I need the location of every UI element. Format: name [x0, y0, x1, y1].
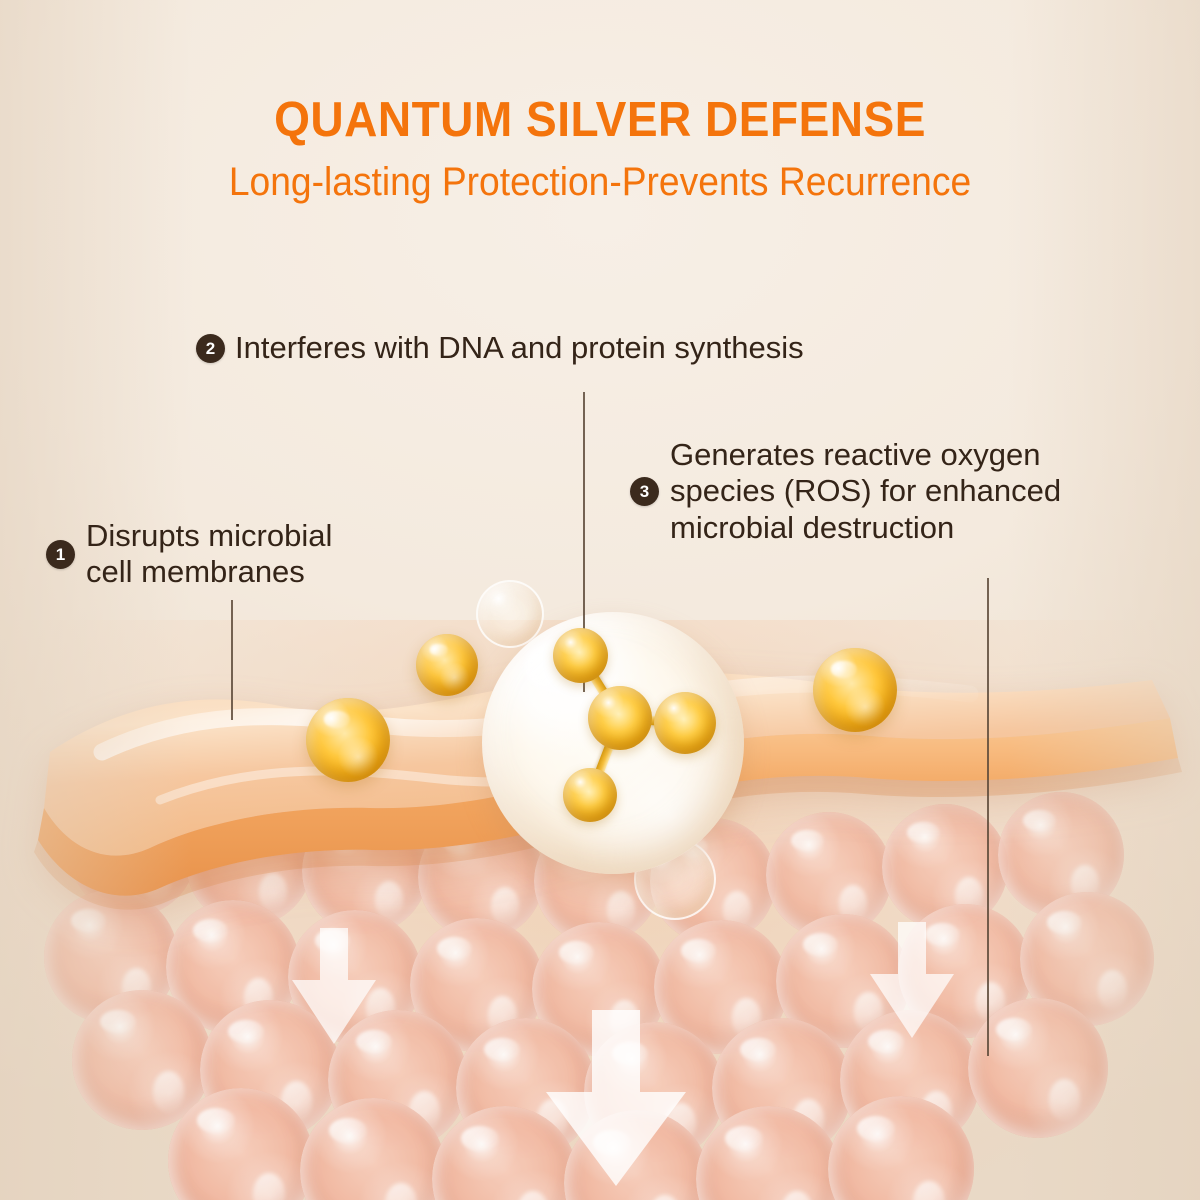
callout-2: 2 Interferes with DNA and protein synthe…	[196, 330, 804, 366]
gold-particle	[416, 634, 478, 696]
gold-particle	[306, 698, 390, 782]
callout-2-text: Interferes with DNA and protein synthesi…	[235, 330, 804, 366]
callout-2-badge: 2	[196, 334, 225, 363]
penetration-arrow-center	[540, 1010, 692, 1190]
callout-3: 3 Generates reactive oxygen species (ROS…	[630, 437, 1061, 546]
molecule-atom	[553, 628, 608, 683]
callout-3-badge: 3	[630, 477, 659, 506]
penetration-arrow-right	[866, 922, 958, 1040]
infographic-canvas: QUANTUM SILVER DEFENSE Long-lasting Prot…	[0, 0, 1200, 1200]
callout-1-badge: 1	[46, 540, 75, 569]
page-title: QUANTUM SILVER DEFENSE	[36, 92, 1164, 148]
callout-1-text: Disrupts microbial cell membranes	[86, 518, 332, 591]
callout-3-text: Generates reactive oxygen species (ROS) …	[670, 437, 1061, 546]
page-subtitle: Long-lasting Protection-Prevents Recurre…	[42, 160, 1158, 205]
gold-particle	[813, 648, 897, 732]
callout-1: 1 Disrupts microbial cell membranes	[46, 518, 332, 591]
molecule-atom-center	[588, 686, 652, 750]
molecule-atom	[654, 692, 716, 754]
leader-line-3	[987, 578, 989, 1056]
leader-line-1	[231, 600, 233, 720]
molecule-atom	[563, 768, 617, 822]
penetration-arrow-left	[288, 928, 380, 1046]
